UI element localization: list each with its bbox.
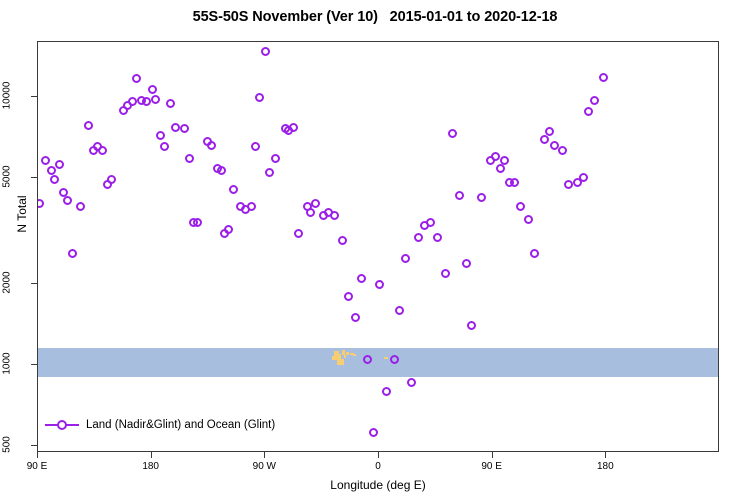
y-axis-tick-label: 1000 [2,344,13,384]
legend-marker-icon [45,419,79,431]
data-point [491,152,500,161]
reference-band [38,348,718,378]
data-point [160,142,169,151]
x-axis-tick [492,452,493,458]
data-point [357,274,366,283]
data-point [148,85,157,94]
legend-item-label: Land (Nadir&Glint) and Ocean (Glint) [86,419,275,431]
data-point [289,123,298,132]
data-point [540,135,549,144]
data-point [247,202,256,211]
data-point [530,249,539,258]
y-axis-tick-label: 5000 [2,156,13,196]
y-axis-tick-label: 2000 [2,263,13,303]
data-point [84,121,93,130]
y-axis-title: N Total [15,154,29,274]
coastline-segment [344,355,346,358]
data-point [426,218,435,227]
page-title: 55S-50S November (Ver 10) 2015-01-01 to … [0,9,750,25]
x-axis-tick [264,452,265,458]
data-point [128,97,137,106]
data-point [55,160,64,169]
data-point [142,97,151,106]
data-point [524,215,533,224]
data-point [68,249,77,258]
data-point [414,233,423,242]
x-axis-tick [37,452,38,458]
data-point [433,233,442,242]
x-axis-tick [378,452,379,458]
coastline-segment [384,357,388,359]
data-point [395,306,404,315]
data-point [224,225,233,234]
data-point [448,129,457,138]
data-point [98,146,107,155]
data-point [107,175,116,184]
data-point [545,127,554,136]
data-point [306,208,315,217]
data-point [311,199,320,208]
x-axis-tick [605,452,606,458]
data-point [496,164,505,173]
data-point [579,173,588,182]
data-point [185,154,194,163]
plot-area [37,41,719,452]
data-point [382,387,391,396]
coastline-segment [353,354,356,356]
data-point [462,259,471,268]
data-point [37,199,44,208]
data-point [180,124,189,133]
data-point [590,96,599,105]
data-point [41,156,50,165]
data-point [351,313,360,322]
coastline-segment [339,359,344,365]
data-point [407,378,416,387]
data-point [599,73,608,82]
x-axis-tick [151,452,152,458]
data-point [401,254,410,263]
data-point [338,236,347,245]
x-axis-tick-label: 180 [597,461,614,472]
data-point [516,202,525,211]
x-axis-tick-label: 90 W [253,461,276,472]
data-point [369,428,378,437]
data-point [375,280,384,289]
data-point [265,168,274,177]
coastline-segment [346,352,349,355]
data-point [500,156,509,165]
data-point [467,321,476,330]
data-point [151,95,160,104]
scatter-plot-figure: 55S-50S November (Ver 10) 2015-01-01 to … [0,0,750,500]
y-axis-tick-label: 500 [2,424,13,464]
legend: Land (Nadir&Glint) and Ocean (Glint) [41,417,279,433]
x-axis-title: Longitude (deg E) [37,478,719,492]
x-axis-tick-label: 0 [375,461,381,472]
data-point [229,185,238,194]
data-point [251,142,260,151]
x-axis-tick-label: 90 E [27,461,48,472]
data-point [166,99,175,108]
x-axis-tick-label: 180 [142,461,159,472]
data-point [156,131,165,140]
data-point [558,146,567,155]
data-point [63,196,72,205]
coastline-segment [332,356,335,360]
data-point [584,107,593,116]
data-point [271,154,280,163]
data-point [207,141,216,150]
data-point [344,292,353,301]
data-point [390,355,399,364]
data-point [255,93,264,102]
data-point [217,166,226,175]
data-point [477,193,486,202]
data-point [193,218,202,227]
data-point [455,191,464,200]
data-point [510,178,519,187]
data-point [294,229,303,238]
data-point [261,47,270,56]
data-point [441,269,450,278]
data-point [363,355,372,364]
x-axis-tick-label: 90 E [481,461,502,472]
data-point [50,175,59,184]
data-point [171,123,180,132]
data-point [132,74,141,83]
y-axis-tick-label: 10000 [2,75,13,115]
data-point [564,180,573,189]
data-point [76,202,85,211]
data-point [47,166,56,175]
data-point [330,211,339,220]
